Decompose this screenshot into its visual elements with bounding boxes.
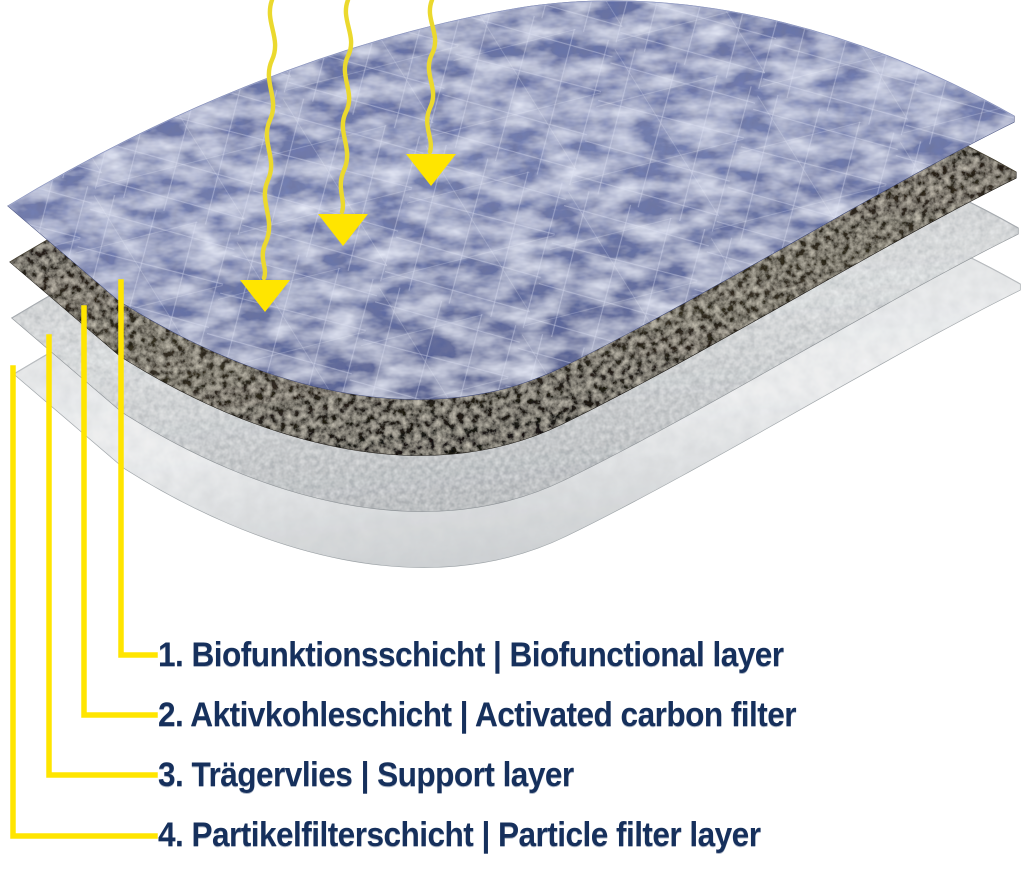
legend-label-4: 4. Partikelfilterschicht | Particle filt… bbox=[158, 818, 760, 852]
legend-item-biofunctional-layer[interactable]: 1. Biofunktionsschicht | Biofunctional l… bbox=[158, 632, 831, 678]
filter-layer-diagram: 1. Biofunktionsschicht | Biofunctional l… bbox=[0, 0, 1024, 879]
legend-item-support-layer[interactable]: 3. Trägervlies | Support layer bbox=[158, 752, 605, 798]
legend-label-3: 3. Trägervlies | Support layer bbox=[158, 758, 574, 792]
layer-stack-illustration bbox=[0, 0, 1024, 879]
legend-label-2: 2. Aktivkohleschicht | Activated carbon … bbox=[158, 698, 796, 732]
legend-item-particle-filter-layer[interactable]: 4. Partikelfilterschicht | Particle filt… bbox=[158, 812, 806, 858]
legend-item-activated-carbon-filter[interactable]: 2. Aktivkohleschicht | Activated carbon … bbox=[158, 692, 844, 738]
legend-label-1: 1. Biofunktionsschicht | Biofunctional l… bbox=[158, 638, 784, 672]
